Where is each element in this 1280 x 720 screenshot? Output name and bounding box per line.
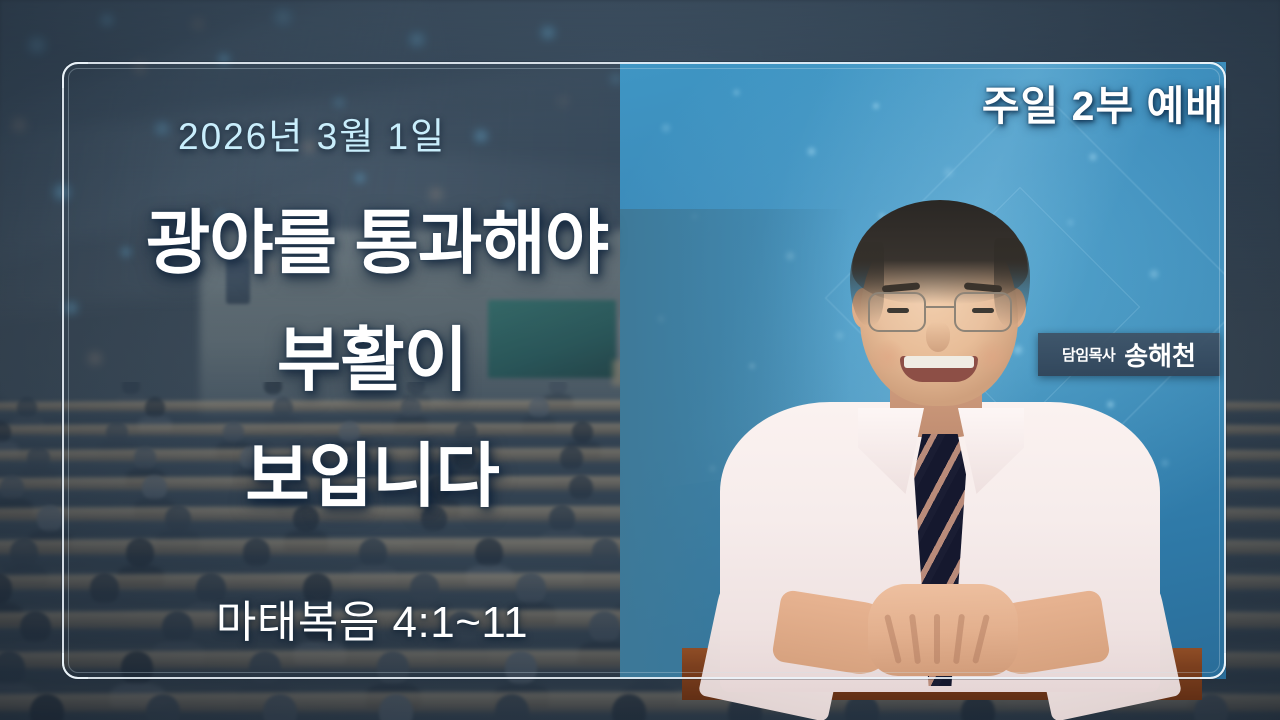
glasses-bridge: [926, 306, 954, 308]
clasped-hands: [868, 584, 1018, 676]
pastor-mouth: [900, 356, 978, 382]
panel-light-dot: [732, 88, 741, 97]
sermon-title-line-3: 보입니다: [62, 441, 682, 512]
finger: [953, 614, 965, 664]
finger: [884, 614, 902, 664]
panel-light-dot: [1160, 458, 1170, 468]
glasses-lens-right: [954, 292, 1012, 332]
service-date: 2026년 3월 1일: [178, 106, 446, 160]
finger: [909, 614, 921, 664]
pastor-teeth: [904, 356, 974, 368]
panel-light-dot: [1088, 152, 1098, 162]
pastor-cheek-right: [972, 340, 1012, 374]
speaker-role-label: 담임목사: [1062, 344, 1115, 365]
panel-light-dot: [1148, 268, 1160, 280]
pastor-portrait: [740, 180, 1140, 680]
glasses-lens-left: [868, 292, 926, 332]
sermon-title-line-1: 광야를 통과해야: [72, 208, 682, 279]
speaker-name-label: 송해천: [1124, 336, 1196, 373]
panel-light-dot: [660, 122, 672, 134]
sermon-title-slide: 담임목사 송해천 주일 2부 예배 2026년 3월 1일 광야를 통과해야 부…: [0, 0, 1280, 720]
finger: [934, 614, 940, 664]
panel-light-dot: [806, 146, 817, 157]
finger: [972, 614, 990, 664]
sermon-title: 광야를 통과해야 부활이 보입니다: [62, 208, 682, 512]
pastor-nose: [926, 322, 950, 352]
panel-light-dot: [942, 166, 955, 179]
service-title: 주일 2부 예배: [982, 72, 1224, 132]
panel-light-dot: [872, 102, 880, 110]
scripture-reference: 마태복음 4:1~11: [62, 586, 682, 650]
sermon-title-line-2: 부활이: [62, 325, 682, 396]
speaker-name-badge: 담임목사 송해천: [1038, 333, 1220, 376]
